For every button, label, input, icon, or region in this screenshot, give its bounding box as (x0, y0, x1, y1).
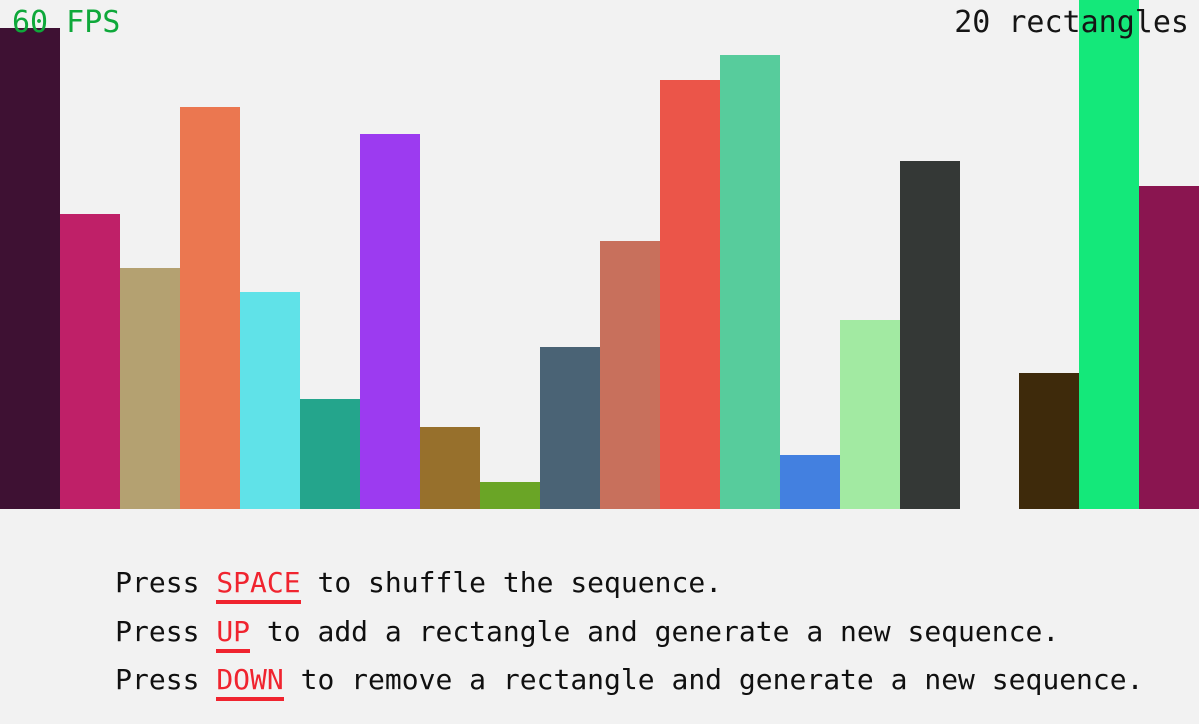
instruction-suffix: to remove a rectangle and generate a new… (284, 663, 1144, 696)
rectangle-sequence-canvas[interactable] (0, 0, 1199, 509)
instruction-line-remove: Press DOWN to remove a rectangle and gen… (14, 638, 1143, 722)
app-root: 60 FPS 20 rectangles Press SPACE to shuf… (0, 0, 1199, 675)
bar-rectangle (1079, 0, 1139, 509)
bar-rectangle (1139, 186, 1199, 509)
rectangle-count-label: 20 rectangles (954, 8, 1189, 38)
bar-rectangle (360, 134, 420, 509)
bar-rectangle (720, 55, 780, 509)
bar-rectangle (900, 161, 960, 509)
bar-rectangle (1019, 373, 1079, 509)
bar-rectangle (660, 80, 720, 509)
bar-rectangle (840, 320, 900, 509)
bar-rectangle (600, 241, 660, 509)
fps-counter: 60 FPS (12, 8, 120, 38)
bar-rectangle (420, 427, 480, 509)
bar-rectangle (180, 107, 240, 509)
bar-rectangle (300, 399, 360, 509)
bar-rectangle (60, 214, 120, 509)
bar-rectangle (480, 482, 540, 509)
key-down[interactable]: DOWN (216, 663, 283, 701)
bar-rectangle (120, 268, 180, 509)
bar-rectangle (540, 347, 600, 509)
bar-rectangle (0, 28, 60, 509)
instruction-prefix: Press (115, 663, 216, 696)
instructions-panel: Press SPACE to shuffle the sequence. Pre… (0, 509, 1199, 675)
bar-rectangle (780, 455, 840, 509)
bar-rectangle (240, 292, 300, 509)
